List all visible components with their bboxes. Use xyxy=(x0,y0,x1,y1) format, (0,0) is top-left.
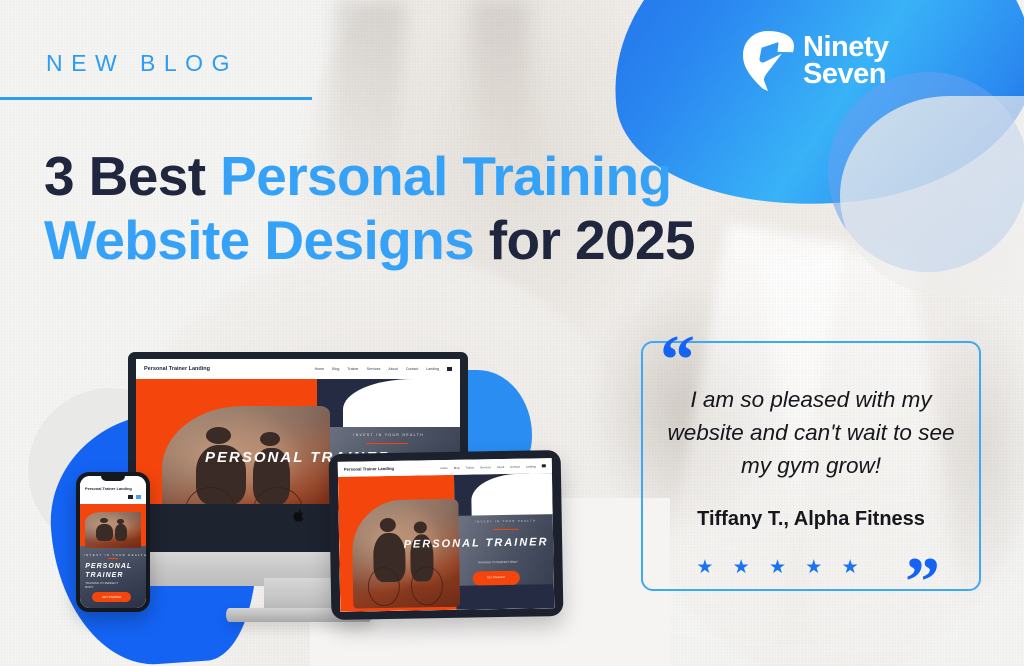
phone-hamburger-icon[interactable] xyxy=(128,495,133,499)
headline-part-3: Website Designs xyxy=(44,209,474,271)
tablet-nav-contact: Contact xyxy=(510,464,520,468)
phone-hero-sub-line2: BODY xyxy=(85,585,140,589)
tablet-nav-home: Home xyxy=(440,465,448,469)
apple-logo-icon xyxy=(293,509,304,524)
mockup-nav-trainer: Trainer xyxy=(347,367,358,371)
device-mockups: Personal Trainer Landing Home Blog Train… xyxy=(0,330,620,666)
mockup-nav-landing: Landing xyxy=(426,367,439,371)
testimonial-author: Tiffany T., Alpha Fitness xyxy=(651,508,971,531)
phone-hero-title-line1: PERSONAL xyxy=(85,562,140,571)
logo-line-2: Seven xyxy=(803,61,889,88)
phone-hero-sub: TRAINING TO PERFECT BODY xyxy=(85,581,140,590)
headline-part-1: 3 Best xyxy=(44,145,220,207)
mockup-hero-eyebrow: INVEST IN YOUR HEALTH xyxy=(324,433,454,437)
phone-hero-title: PERSONAL TRAINER xyxy=(85,562,140,580)
tablet-nav-blog: Blog xyxy=(454,465,460,469)
testimonial-text: I am so pleased with my website and can'… xyxy=(651,383,971,482)
rating-stars: ★ ★ ★ ★ ★ xyxy=(651,556,911,579)
quote-close-icon: ” xyxy=(905,548,938,618)
mockup-site-name: Personal Trainer Landing xyxy=(144,366,210,372)
tablet-site-name: Personal Trainer Landing xyxy=(344,466,394,472)
mockup-nav-home: Home xyxy=(315,367,325,371)
tablet-mockup: Personal Trainer Landing Home Blog Train… xyxy=(329,450,564,620)
tablet-nav-services: Services xyxy=(480,465,491,469)
phone-site-name: Personal Trainer Landing xyxy=(85,486,141,491)
mockup-nav-blog: Blog xyxy=(332,367,339,371)
mockup-nav-contact: Contact xyxy=(406,367,418,371)
logo-line-1: Ninety xyxy=(803,34,889,61)
tablet-site-preview: Personal Trainer Landing Home Blog Train… xyxy=(338,458,555,612)
eyebrow-label: NEW BLOG xyxy=(46,50,238,77)
phone-site-preview: Personal Trainer Landing xyxy=(80,476,146,608)
eyebrow-rule xyxy=(0,97,312,100)
ninety-seven-mark-icon xyxy=(742,30,794,92)
mockup-nav-services: Services xyxy=(367,367,381,371)
hamburger-icon xyxy=(447,367,452,371)
banner-canvas: Ninety Seven NEW BLOG 3 Best Personal Tr… xyxy=(0,0,1024,666)
phone-action-icon[interactable] xyxy=(136,495,141,499)
tablet-nav-trainer: Trainer xyxy=(465,465,474,469)
headline-part-4: for 2025 xyxy=(474,209,695,271)
phone-hero-eyebrow: INVEST IN YOUR HEALTH xyxy=(84,553,142,557)
phone-hero-title-line2: TRAINER xyxy=(85,571,140,580)
phone-cta-button[interactable]: GET STARTED xyxy=(92,592,132,601)
phone-mockup: Personal Trainer Landing xyxy=(76,472,150,612)
brand-logo: Ninety Seven xyxy=(742,30,889,92)
mockup-nav-about: About xyxy=(388,367,397,371)
tablet-nav-landing: Landing xyxy=(526,464,536,468)
headline-part-2: Personal Training xyxy=(220,145,671,207)
tablet-hamburger-icon xyxy=(542,464,546,467)
page-title: 3 Best Personal Training Website Designs… xyxy=(44,144,804,272)
tablet-nav-about: About xyxy=(497,464,504,468)
tablet-cta-button[interactable]: GET STARTED xyxy=(472,571,519,585)
